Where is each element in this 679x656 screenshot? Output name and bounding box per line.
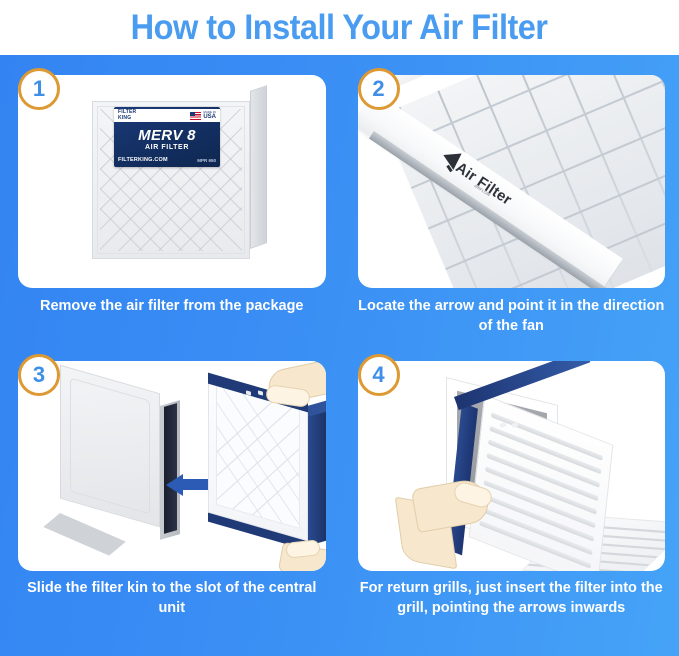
merv-rating-text: MERV 8 [114,127,220,144]
made-in-usa-badge: MADE IN USA [190,111,216,120]
return-grill-door [468,394,613,571]
insert-direction-arrow-head [166,474,183,496]
step-caption-2: Locate the arrow and point it in the dir… [352,296,672,336]
mpr-rating-text: MPR 650 [197,158,216,163]
step-card-3 [18,361,326,571]
step-cell-2: Air Filter AIRFLOW 2 Locate the arrow an… [340,55,679,356]
step-card-4 [358,361,666,571]
usa-flag-icon [190,112,201,120]
step-caption-4: For return grills, just insert the filte… [352,578,672,618]
step-4-artwork [358,361,666,571]
step-cell-4: 4 For return grills, just insert the fil… [340,356,679,656]
filter-clip-left-icon [246,390,251,395]
step-cell-3: 3 Slide the filter kin to the slot of th… [0,356,340,656]
step-caption-1: Remove the air filter from the package [12,296,332,316]
label-header-strip: FILTER KING MADE IN USA [114,109,220,122]
page-title: How to Install Your Air Filter [131,8,548,48]
step-badge-1: 1 [18,68,60,110]
step-2-artwork: Air Filter AIRFLOW [358,75,666,288]
infographic-page: How to Install Your Air Filter [0,0,679,656]
product-label: FILTER KING MADE IN USA [114,107,220,167]
filter-pleat-field [380,75,665,288]
step-badge-3: 3 [18,354,60,396]
step-cell-1: FILTER KING MADE IN USA [0,55,340,356]
central-unit-inner-outline [70,377,150,514]
filter-king-logo: FILTER KING [118,110,136,121]
central-unit-bottom [43,513,126,556]
filter-clip-right-icon [258,390,263,395]
filter-panel-side-frame [308,400,326,546]
website-text: FILTERKING.COM [118,157,168,163]
header: How to Install Your Air Filter [0,0,679,55]
filter-side-face [250,85,267,249]
air-filter-product-image: FILTER KING MADE IN USA [92,91,267,266]
step-1-artwork: FILTER KING MADE IN USA [18,75,326,288]
step-card-1: FILTER KING MADE IN USA [18,75,326,288]
steps-grid: FILTER KING MADE IN USA [0,55,679,656]
step-badge-4: 4 [358,354,400,396]
product-type-text: AIR FILTER [114,144,220,151]
filter-corner-image: Air Filter AIRFLOW [358,75,666,288]
step-badge-2: 2 [358,68,400,110]
central-unit-slot [164,403,177,534]
country-text: USA [203,114,216,120]
label-footer-strip: FILTERKING.COM MPR 650 [118,157,216,163]
step-card-2: Air Filter AIRFLOW [358,75,666,288]
hand-lower-fingers [285,539,320,558]
step-3-artwork [18,361,326,571]
step-caption-3: Slide the filter kin to the slot of the … [12,578,332,618]
